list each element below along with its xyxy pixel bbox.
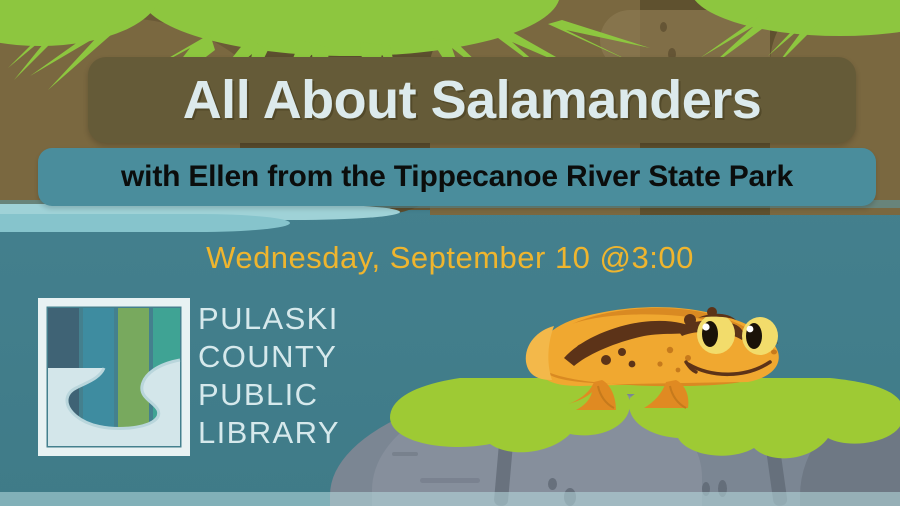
- logo-line-1: PULASKI: [198, 300, 378, 338]
- library-logo-mark-icon: [38, 298, 190, 456]
- library-logo-wordmark: PULASKI COUNTY PUBLIC LIBRARY: [198, 300, 378, 452]
- logo-line-2: COUNTY: [198, 338, 378, 376]
- water-highlight: [0, 214, 290, 232]
- poster-title: All About Salamanders: [88, 57, 856, 143]
- water-foreground: [0, 492, 900, 506]
- poster-canvas: All About Salamanders with Ellen from th…: [0, 0, 900, 506]
- poster-subtitle: with Ellen from the Tippecanoe River Sta…: [38, 148, 876, 206]
- event-date-time: Wednesday, September 10 @3:00: [0, 240, 900, 276]
- logo-line-4: LIBRARY: [198, 414, 378, 452]
- salamander-illustration: [520, 290, 810, 410]
- logo-line-3: PUBLIC: [198, 376, 378, 414]
